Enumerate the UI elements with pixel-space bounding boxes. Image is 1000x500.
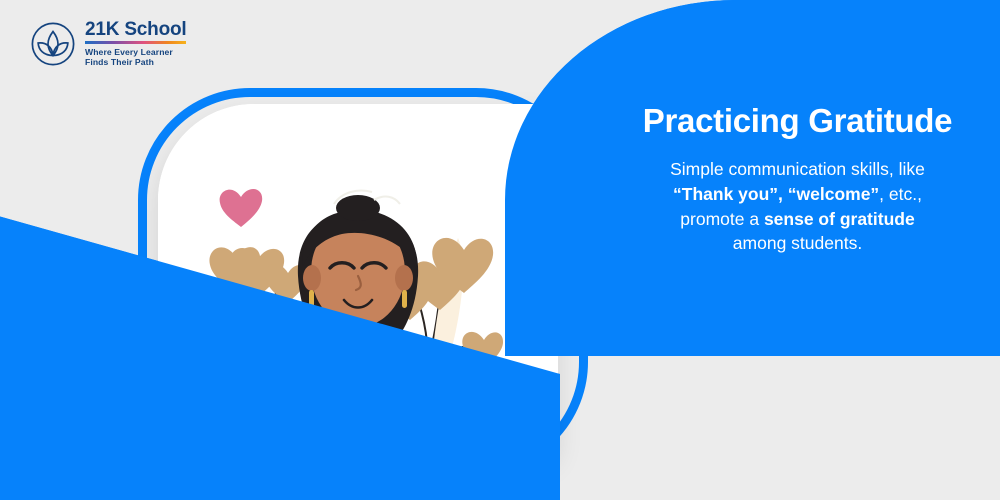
brand-logo[interactable]: 21K School Where Every Learner Finds The…: [30, 20, 186, 67]
banner-canvas: 21K School Where Every Learner Finds The…: [0, 0, 1000, 500]
body-copy: Simple communication skills, like “Thank…: [600, 157, 995, 256]
logo-tagline-line1: Where Every Learner: [85, 47, 173, 57]
logo-text-block: 21K School Where Every Learner Finds The…: [85, 20, 186, 67]
copy-block: Practicing Gratitude Simple communicatio…: [600, 103, 995, 256]
logo-tagline: Where Every Learner Finds Their Path: [85, 47, 186, 68]
logo-tagline-line2: Finds Their Path: [85, 57, 154, 67]
body-bold-phrase: sense of gratitude: [764, 209, 915, 229]
body-bold-quote: “Thank you”, “welcome”: [673, 184, 879, 204]
logo-gradient-rule: [85, 41, 186, 44]
body-line-4: among students.: [733, 233, 862, 253]
body-line-2-tail: , etc.,: [879, 184, 922, 204]
body-line-1: Simple communication skills, like: [670, 159, 925, 179]
page-title: Practicing Gratitude: [600, 103, 995, 140]
lotus-circle-icon: [30, 21, 76, 67]
logo-name: 21K School: [85, 20, 186, 39]
body-line-3-lead: promote a: [680, 209, 764, 229]
